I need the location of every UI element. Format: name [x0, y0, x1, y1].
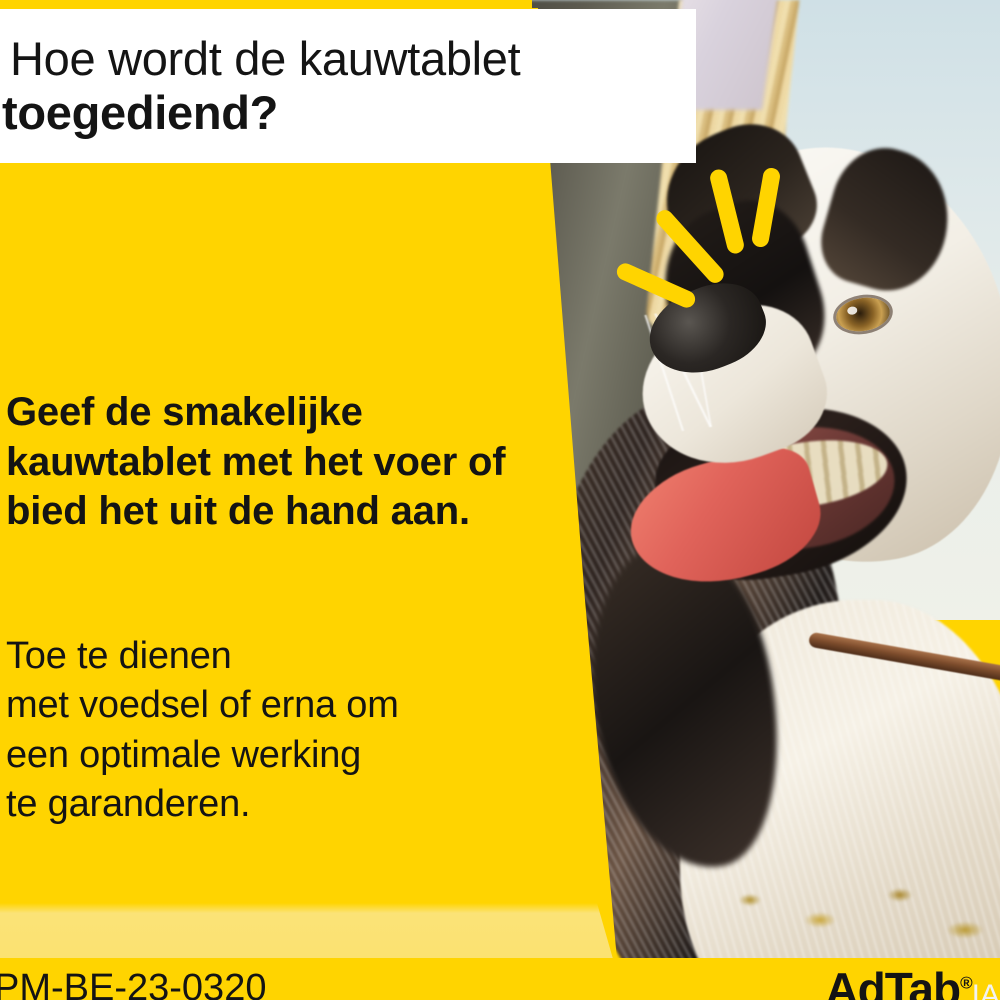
sparkle-ray-icon: [653, 207, 727, 287]
reference-code: PM-BE-23-0320: [0, 967, 266, 1000]
instruction-bold-paragraph: Geef de smakelijke kauwtablet met het vo…: [6, 388, 546, 537]
header-title-box: Hoe wordt de kauwtablet toegediend?: [0, 9, 696, 163]
page-title-line-1: Hoe wordt de kauwtablet: [10, 35, 696, 82]
sparkle-ray-icon: [614, 261, 698, 311]
poster-canvas: Hoe wordt de kauwtablet toegediend? Geef…: [0, 0, 1000, 1000]
instruction-light-line: Toe te dienen: [6, 632, 566, 681]
light-yellow-gradient-band: [0, 903, 620, 959]
sparkle-burst-graphic: [600, 205, 780, 335]
brand-logo: AdTab®IA: [825, 962, 1000, 1000]
registered-trademark-icon: ®: [960, 974, 972, 993]
page-title-line-2: toegediend?: [2, 88, 696, 137]
brand-logo-tail: IA: [972, 979, 1000, 1000]
instruction-light-paragraph: Toe te dienen met voedsel of erna om een…: [6, 632, 566, 830]
footer-band: PM-BE-23-0320 AdTab®IA: [0, 958, 1000, 1000]
brand-name: AdTab: [825, 963, 960, 1000]
instruction-light-line: met voedsel of erna om: [6, 681, 566, 730]
instruction-light-line: te garanderen.: [6, 780, 566, 829]
instruction-light-line: een optimale werking: [6, 731, 566, 780]
yellow-top-strip: [0, 0, 531, 9]
